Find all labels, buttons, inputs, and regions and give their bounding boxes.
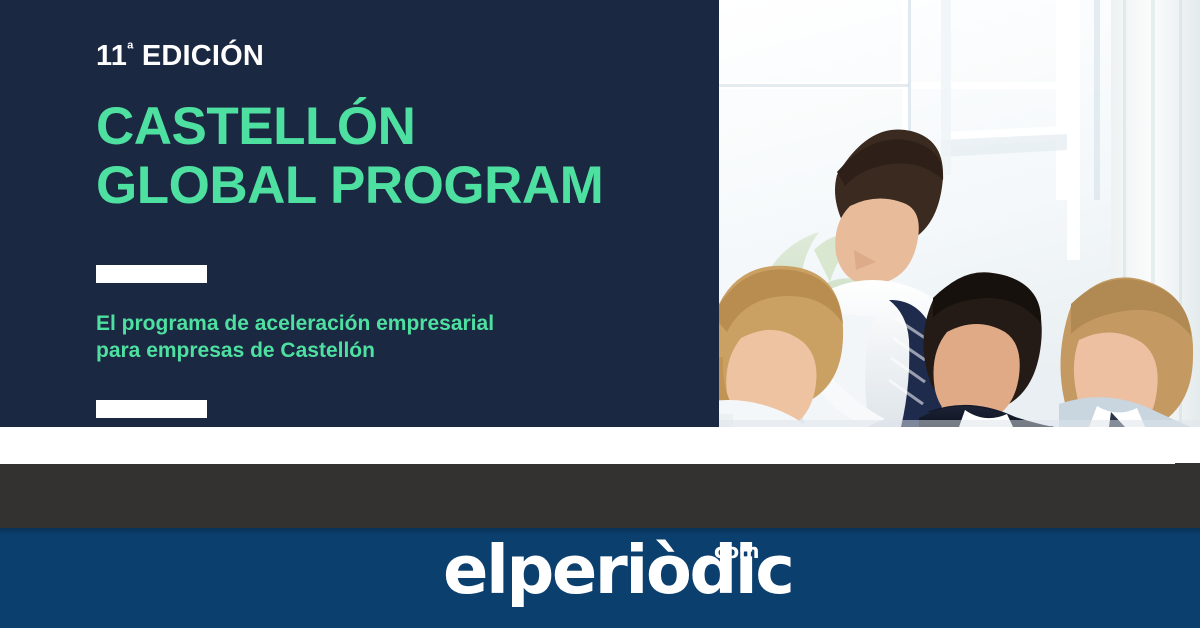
tagline: El programa de aceleración empresarial p… — [96, 310, 696, 365]
divider-bar-top — [96, 265, 207, 283]
headline-line-2: GLOBAL PROGRAM — [96, 156, 603, 215]
banner-photo — [719, 0, 1200, 427]
page-title: CASTELLÓN GLOBAL PROGRAM — [96, 97, 696, 216]
banner-page: 11ª EDICIÓN CASTELLÓN GLOBAL PROGRAM El … — [0, 0, 1200, 628]
tagline-line-2: para empresas de Castellón — [96, 339, 375, 362]
logo-com-suffix: com — [714, 541, 759, 561]
dark-gray-band — [0, 464, 1200, 528]
edition-number: 11 — [96, 40, 127, 72]
edition-ordinal-icon: ª — [127, 39, 134, 58]
elperiodic-logo[interactable]: elperiòdic com — [443, 539, 763, 601]
edition-label: 11ª EDICIÓN — [96, 42, 696, 71]
gray-band-notch — [1175, 463, 1200, 465]
promo-banner[interactable]: 11ª EDICIÓN CASTELLÓN GLOBAL PROGRAM El … — [0, 0, 1200, 427]
banner-copy-block: 11ª EDICIÓN CASTELLÓN GLOBAL PROGRAM El … — [96, 42, 696, 427]
headline-line-1: CASTELLÓN — [96, 97, 415, 156]
banner-text-panel: 11ª EDICIÓN CASTELLÓN GLOBAL PROGRAM El … — [0, 0, 719, 427]
white-separator — [0, 427, 1200, 464]
edition-word: EDICIÓN — [142, 40, 264, 72]
tagline-line-1: El programa de aceleración empresarial — [96, 312, 494, 335]
divider-bar-bottom — [96, 400, 207, 418]
business-team-photo-icon — [719, 0, 1200, 427]
